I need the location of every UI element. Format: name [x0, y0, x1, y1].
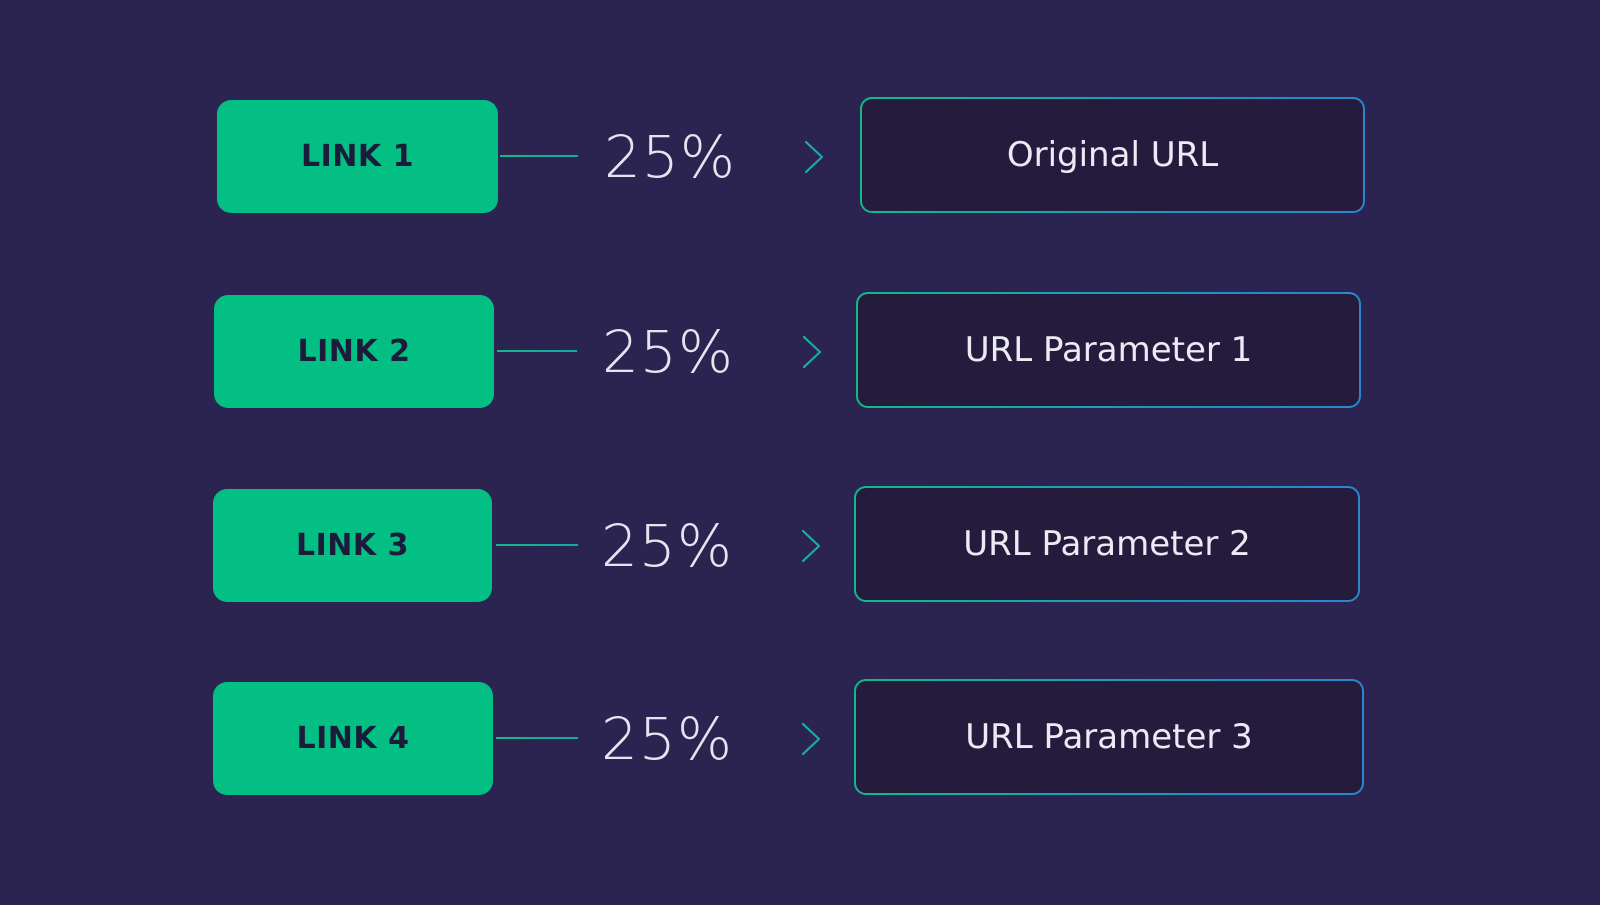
horizontal-line-connector [496, 544, 578, 546]
link-box-4[interactable]: LINK 4 [213, 682, 493, 795]
target-box-3[interactable]: URL Parameter 2 [854, 486, 1360, 602]
target-box-1[interactable]: Original URL [860, 97, 1365, 213]
link-box-label: LINK 3 [296, 531, 409, 561]
arrow-right-icon [758, 332, 828, 372]
target-box-label: Original URL [1007, 138, 1218, 172]
diagram-row: LINK 1 25% Original URL [0, 97, 1600, 217]
target-box-4[interactable]: URL Parameter 3 [854, 679, 1364, 795]
arrow-right-icon [757, 719, 827, 759]
percent-label: 25% [598, 323, 738, 381]
target-box-inner: URL Parameter 2 [856, 488, 1358, 600]
diagram-row: LINK 2 25% URL Parameter 1 [0, 292, 1600, 412]
horizontal-line-connector [497, 350, 577, 352]
target-box-label: URL Parameter 3 [965, 720, 1253, 754]
target-box-2[interactable]: URL Parameter 1 [856, 292, 1361, 408]
target-box-inner: URL Parameter 1 [858, 294, 1359, 406]
link-box-label: LINK 1 [301, 142, 414, 172]
link-box-label: LINK 4 [297, 724, 410, 754]
percent-label: 25% [600, 128, 740, 186]
diagram-row: LINK 4 25% URL Parameter 3 [0, 679, 1600, 799]
percent-label: 25% [597, 517, 737, 575]
arrow-right-icon [757, 526, 827, 566]
link-box-label: LINK 2 [298, 337, 411, 367]
link-box-1[interactable]: LINK 1 [217, 100, 498, 213]
link-box-2[interactable]: LINK 2 [214, 295, 494, 408]
horizontal-line-connector [496, 737, 578, 739]
arrow-right-icon [760, 137, 830, 177]
horizontal-line-connector [500, 155, 578, 157]
target-box-label: URL Parameter 2 [963, 527, 1251, 561]
percent-label: 25% [597, 710, 737, 768]
link-box-3[interactable]: LINK 3 [213, 489, 492, 602]
target-box-label: URL Parameter 1 [965, 333, 1253, 367]
target-box-inner: URL Parameter 3 [856, 681, 1362, 793]
target-box-inner: Original URL [862, 99, 1363, 211]
diagram-row: LINK 3 25% URL Parameter 2 [0, 486, 1600, 606]
link-distribution-diagram: LINK 1 25% Original URL LINK 2 25% [0, 0, 1600, 905]
